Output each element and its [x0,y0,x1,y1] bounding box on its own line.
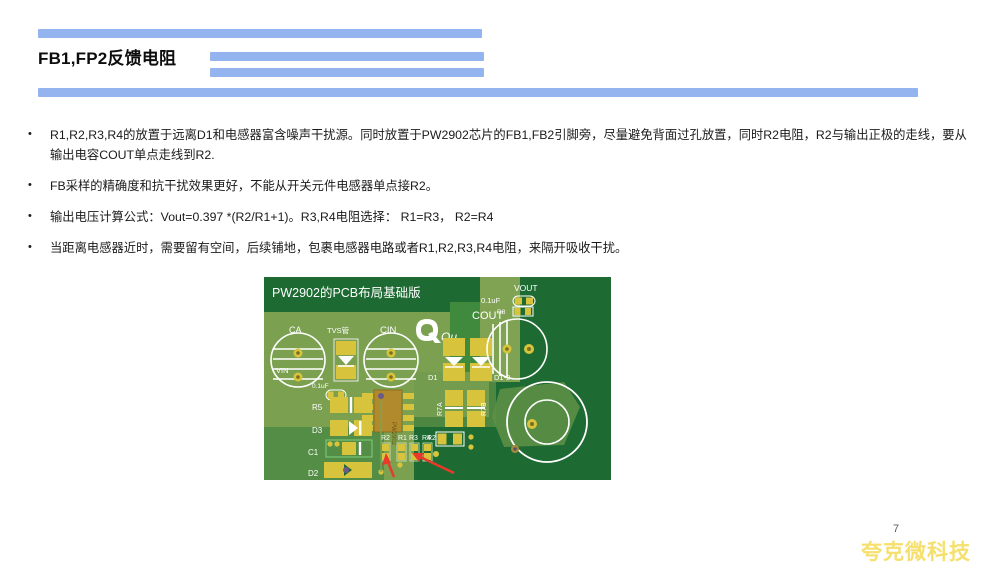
pcb-label-d2: D2 [308,469,319,478]
header-bar-top [38,29,482,38]
bullet-text: 当距离电感器近时，需要留有空间，后续铺地，包裹电感器电路或者R1,R2,R3,R… [50,239,974,259]
header-bar-mid-lower [210,68,484,77]
list-item: • FB采样的精确度和抗干扰效果更好，不能从开关元件电感器单点接R2。 [24,177,974,197]
list-item: • 当距离电感器近时，需要留有空间，后续铺地，包裹电感器电路或者R1,R2,R3… [24,239,974,259]
pcb-label-vout: VOUT [514,283,538,293]
bullet-marker: • [24,126,50,144]
pcb-label-d3: D3 [312,426,323,435]
slide-canvas: FB1,FP2反馈电阻 • R1,R2,R3,R4的放置于远离D1和电感器富含噪… [0,0,999,570]
bullet-list: • R1,R2,R3,R4的放置于远离D1和电感器富含噪声干扰源。同时放置于PW… [24,126,974,270]
pcb-label-ic: PW2902 [390,422,396,446]
pcb-label-r7a: R7A [437,402,444,416]
page-number: 7 [893,523,899,535]
page-title: FB1,FP2反馈电阻 [38,42,184,71]
header-bar-mid-upper [210,52,484,61]
watermark-logo: 夸克微科技 [861,536,971,566]
pcb-label-d1: D1 [428,373,438,382]
copper-pour-right [492,382,580,447]
pcb-label-vin: VIN [276,366,289,375]
bullet-text: 输出电压计算公式：Vout=0.397 *(R2/R1+1)。R3,R4电阻选择… [50,208,974,228]
pcb-label-r2: R2 [381,435,390,442]
pcb-layout-image: PW2902的PCB布局基础版 Qu CA VIN [264,277,611,480]
pcb-label-ca: CA [289,325,302,335]
bullet-marker: • [24,177,50,195]
pcb-label-r5: R5 [312,403,323,412]
pcb-label-r7b: R7B [481,402,488,416]
header-bar-bottom [38,88,918,97]
pcb-label-c1: C1 [308,448,319,457]
bullet-text: FB采样的精确度和抗干扰效果更好，不能从开关元件电感器单点接R2。 [50,177,974,197]
bullet-marker: • [24,208,50,226]
pcb-label-r2b: R2 [427,435,436,442]
pcb-label-cap-01uf-top: 0.1uF [481,296,501,305]
pcb-label-cout: COUT [472,310,503,322]
bullet-marker: • [24,239,50,257]
list-item: • R1,R2,R3,R4的放置于远离D1和电感器富含噪声干扰源。同时放置于PW… [24,126,974,166]
pcb-caption: PW2902的PCB布局基础版 [272,285,421,300]
list-item: • 输出电压计算公式：Vout=0.397 *(R2/R1+1)。R3,R4电阻… [24,208,974,228]
pcb-label-cap-01uf-mid: 0.1uF [312,383,329,390]
pcb-label-cin: CIN [380,325,397,336]
bullet-text: R1,R2,R3,R4的放置于远离D1和电感器富含噪声干扰源。同时放置于PW29… [50,126,974,166]
pcb-label-tvs: TVS管 [327,325,350,335]
pcb-label-r1: R1 [398,435,407,442]
pcb-label-r3: R3 [409,435,418,442]
